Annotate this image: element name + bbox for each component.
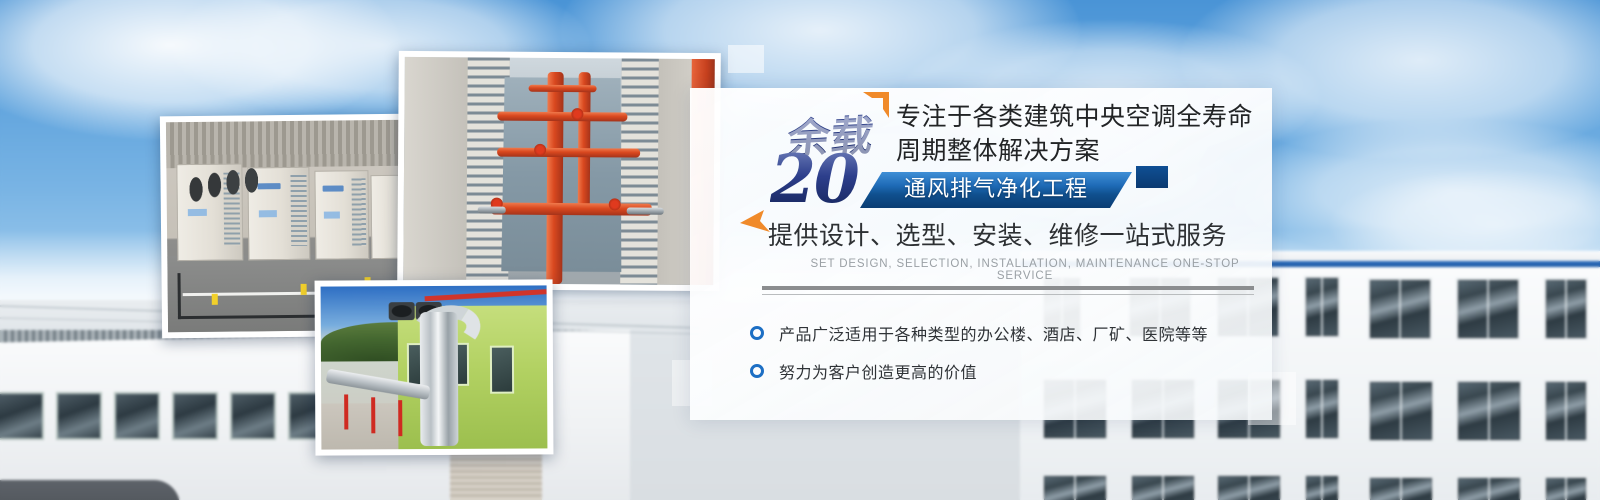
parked-cars (0, 480, 180, 500)
building-window (172, 392, 218, 440)
building-window (1544, 476, 1588, 500)
chiller-left (403, 57, 510, 284)
red-supply-pipe (546, 71, 563, 284)
years-number: 20 (770, 146, 858, 212)
steel-coupling (478, 207, 506, 214)
subtitle-chinese: 提供设计、选型、安装、维修一站式服务 (768, 220, 1258, 252)
building-window (1304, 378, 1340, 440)
pipe-marker-tag (300, 284, 306, 295)
unit-grille (352, 179, 366, 246)
building-window (1368, 278, 1432, 340)
red-fire-pipe (425, 289, 547, 301)
building-window (56, 392, 102, 440)
feature-bullet-list: 产品广泛适用于各种类型的办公楼、酒店、厂矿、医院等等 努力为客户创造更高的价值 (750, 314, 1250, 390)
ribbon-tail (1136, 166, 1168, 188)
red-branch-pipe (497, 148, 640, 158)
headline-line-1: 专注于各类建筑中央空调全寿命 (896, 100, 1264, 134)
subtitle-english: SET DESIGN, SELECTION, INSTALLATION, MAI… (790, 258, 1260, 282)
photo-image (403, 57, 715, 285)
ribbon-label: 通风排气净化工程 (904, 171, 1088, 203)
building-window (1544, 380, 1588, 442)
panel-decor-square-top (728, 45, 764, 73)
building-window (0, 392, 44, 440)
headline: 专注于各类建筑中央空调全寿命 周期整体解决方案 (896, 100, 1264, 168)
building-window (1368, 380, 1434, 442)
black-conduit-riser (177, 273, 180, 319)
ring-bullet-icon (750, 326, 764, 340)
building-window (1304, 474, 1340, 500)
bullet-label: 努力为客户创造更高的价值 (779, 359, 977, 383)
gate-valve-handwheel (608, 198, 620, 210)
red-branch-pipe (497, 112, 627, 122)
corner-bracket-tr-icon (861, 90, 891, 120)
ring-bullet-icon (750, 364, 764, 378)
insulated-duct-riser (420, 312, 459, 446)
unit-grille (291, 175, 307, 246)
building-window (230, 392, 276, 440)
red-return-pipe (577, 72, 590, 212)
duct-support (398, 400, 402, 436)
bullet-label: 产品广泛适用于各种类型的办公楼、酒店、厂矿、医院等等 (779, 321, 1208, 345)
divider (762, 286, 1254, 296)
building-window (1456, 380, 1522, 442)
red-branch-pipe (529, 85, 597, 92)
building-window (1456, 278, 1520, 340)
duct-support (344, 394, 348, 430)
headline-line-2: 周期整体解决方案 (896, 134, 1264, 168)
duct-support (371, 397, 375, 433)
list-item: 努力为客户创造更高的价值 (750, 352, 1250, 390)
building-window (1456, 476, 1522, 500)
divider-thick-rule (762, 286, 1254, 290)
ribbon-badge[interactable]: 通风排气净化工程 (860, 166, 1150, 208)
photo-image (321, 285, 548, 449)
steel-coupling (627, 208, 664, 215)
exhaust-fan (388, 302, 414, 320)
building-window (490, 345, 514, 394)
building-window (114, 392, 160, 440)
hero-banner: 余载 20 专注于各类建筑中央空调全寿命 周期整体解决方案 通风排气净化工程 提… (0, 0, 1600, 500)
pipe-marker-tag (212, 293, 218, 304)
building-window (1368, 476, 1434, 500)
content-panel: 余载 20 专注于各类建筑中央空调全寿命 周期整体解决方案 通风排气净化工程 提… (690, 88, 1272, 420)
corner-bracket-bl-icon (738, 208, 772, 238)
building-window (1304, 276, 1340, 338)
list-item: 产品广泛适用于各种类型的办公楼、酒店、厂矿、医院等等 (750, 314, 1250, 352)
coil-fins (620, 58, 659, 284)
condenser-unit (314, 171, 369, 260)
building-window (1042, 474, 1108, 500)
unit-label (324, 212, 340, 219)
building-window (1130, 474, 1196, 500)
divider-thin-rule (762, 294, 1254, 295)
building-window (1544, 278, 1588, 340)
photo-chiller-red-piping (397, 51, 721, 291)
photo-insulated-duct-rooftop (315, 279, 554, 455)
brand-logo (322, 186, 343, 192)
building-window (1216, 474, 1282, 500)
refrigerant-hoses (181, 138, 285, 223)
